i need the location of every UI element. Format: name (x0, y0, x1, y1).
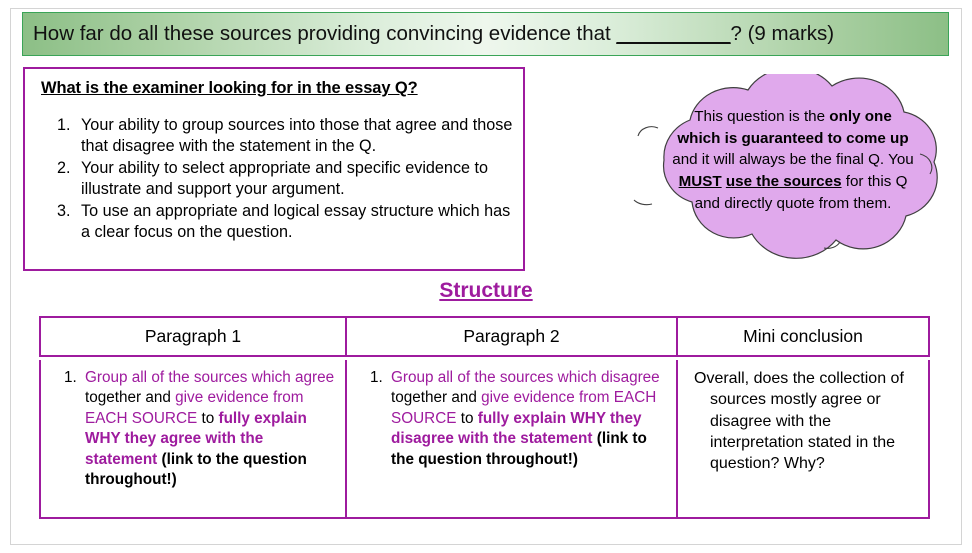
cloud-line7-plain: quote from them. (777, 195, 892, 212)
cloud-line1-bold: only (829, 108, 860, 125)
list-item: Your ability to select appropriate and s… (75, 158, 513, 201)
list-item: To use an appropriate and logical essay … (75, 201, 513, 244)
table-header-mini-conclusion: Mini conclusion (678, 318, 928, 355)
table-cell-paragraph-2: Group all of the sources which disagree … (347, 360, 678, 517)
cloud-line4-plain: always be the final Q. (739, 151, 884, 168)
cloud-callout-text: This question is the only one which is g… (672, 106, 914, 215)
question-title-banner: How far do all these sources providing c… (22, 12, 949, 56)
question-text-before: How far do all these sources providing c… (33, 22, 616, 45)
p1-seg4: to (197, 410, 218, 427)
cloud-line3-bold: to come up (828, 130, 909, 147)
paragraph-1-list: Group all of the sources which agree tog… (45, 368, 339, 491)
table-cell-paragraph-1: Group all of the sources which agree tog… (41, 360, 347, 517)
question-title-text: How far do all these sources providing c… (33, 23, 834, 46)
p2-seg4: to (456, 410, 477, 427)
mini-conclusion-text: Overall, does the collection of sources … (692, 368, 920, 474)
list-item: Group all of the sources which disagree … (387, 368, 670, 470)
p2-seg2: together and (391, 389, 481, 406)
cloud-sources-emphasis: use the sources (726, 173, 842, 190)
p1-seg1: Group all of the sources which agree (85, 369, 334, 386)
cloud-line3-plain: and it will (672, 151, 734, 168)
examiner-criteria-box: What is the examiner looking for in the … (23, 67, 525, 271)
examiner-criteria-list: Your ability to group sources into those… (35, 115, 513, 243)
question-blank: __________ (616, 22, 730, 45)
table-row: Group all of the sources which agree tog… (39, 360, 930, 519)
cloud-must-emphasis: MUST (679, 173, 722, 190)
cloud-line5-plain: You (888, 151, 914, 168)
paragraph-2-list: Group all of the sources which disagree … (351, 368, 670, 470)
examiner-box-heading: What is the examiner looking for in the … (41, 79, 513, 98)
p1-seg2: together and (85, 389, 175, 406)
table-header-row: Paragraph 1 Paragraph 2 Mini conclusion (39, 316, 930, 357)
cloud-callout: This question is the only one which is g… (628, 74, 958, 284)
structure-heading: Structure (0, 279, 972, 303)
table-cell-mini-conclusion: Overall, does the collection of sources … (678, 360, 928, 517)
table-header-paragraph-1: Paragraph 1 (41, 318, 347, 355)
table-header-paragraph-2: Paragraph 2 (347, 318, 678, 355)
cloud-line1-plain: This question is the (694, 108, 829, 125)
list-item: Your ability to group sources into those… (75, 115, 513, 158)
p2-seg1: Group all of the sources which disagree (391, 369, 660, 386)
structure-heading-label: Structure (439, 279, 532, 302)
list-item: Group all of the sources which agree tog… (81, 368, 339, 491)
question-text-after: ? (9 marks) (730, 22, 834, 45)
structure-table: Paragraph 1 Paragraph 2 Mini conclusion … (39, 316, 930, 519)
